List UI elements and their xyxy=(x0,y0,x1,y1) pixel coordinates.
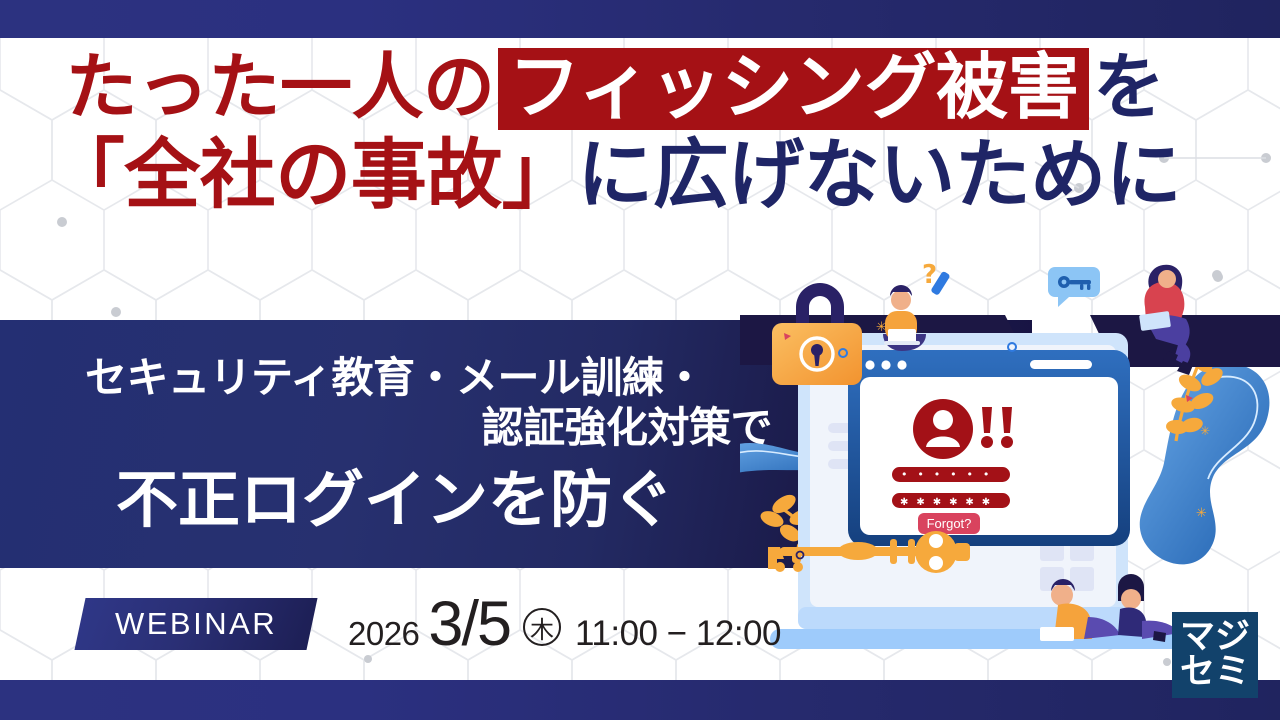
password-dots: • • • • • • xyxy=(901,468,993,481)
event-time: 11:00 − 12:00 xyxy=(575,614,781,654)
headline-line-2: 「全社の事故」に広げないために xyxy=(0,136,1230,214)
headline-line1-suffix: を xyxy=(1093,45,1165,129)
svg-text:✳: ✳ xyxy=(1200,424,1210,438)
svg-text:✳: ✳ xyxy=(1196,506,1207,521)
event-day-of-week: 木 xyxy=(523,608,561,646)
login-window: • • • • • • ✱ ✱ ✱ ✱ ✱ ✱ Forgot? xyxy=(848,350,1130,546)
webinar-badge-label: WEBINAR xyxy=(115,606,277,642)
headline-block: たった一人のフィッシング被害を 「全社の事故」に広げないために xyxy=(0,48,1230,214)
headline-highlight-phishing: フィッシング被害 xyxy=(498,48,1089,130)
window-dots xyxy=(865,360,906,369)
footer-bar: WEBINAR 2026 3/5 木 11:00 − 12:00 xyxy=(0,568,1280,680)
user-avatar-icon xyxy=(913,399,973,459)
webinar-banner: たった一人のフィッシング被害を 「全社の事故」に広げないために セキュリティ教育… xyxy=(0,0,1280,720)
forgot-button-label: Forgot? xyxy=(927,516,972,531)
window-url-bar xyxy=(1030,360,1092,369)
subtitle-text-block: セキュリティ教育・メール訓練・ 認証強化対策で 不正ログインを防ぐ xyxy=(0,320,790,568)
event-datetime: 2026 3/5 木 11:00 − 12:00 xyxy=(348,588,781,660)
webinar-badge: WEBINAR xyxy=(74,598,317,650)
headline-line2-navy: に広げないために xyxy=(577,130,1181,219)
svg-text:✳: ✳ xyxy=(876,320,887,335)
subtitle-main-line: 不正ログインを防ぐ xyxy=(116,466,674,534)
password-stars: ✱ ✱ ✱ ✱ ✱ ✱ xyxy=(900,497,993,508)
subtitle-line-2: 認証強化対策で xyxy=(0,403,790,453)
event-day: 3/5 xyxy=(428,588,510,660)
headline-line1-prefix: たった一人の xyxy=(65,45,494,129)
headline-line2-red: 「全社の事故」 xyxy=(49,130,578,219)
headline-line-1: たった一人のフィッシング被害を xyxy=(0,48,1230,130)
logo-line-1: マジ xyxy=(1180,620,1250,655)
majisemi-logo: マジ セミ xyxy=(1172,612,1258,698)
logo-line-2: セミ xyxy=(1180,655,1250,690)
key-chat-bubble xyxy=(1048,267,1100,307)
subtitle-line-1: セキュリティ教育・メール訓練・ xyxy=(85,353,705,403)
event-year: 2026 xyxy=(348,615,419,653)
bottom-accent-bar xyxy=(0,680,1280,720)
top-accent-bar xyxy=(0,0,1280,38)
